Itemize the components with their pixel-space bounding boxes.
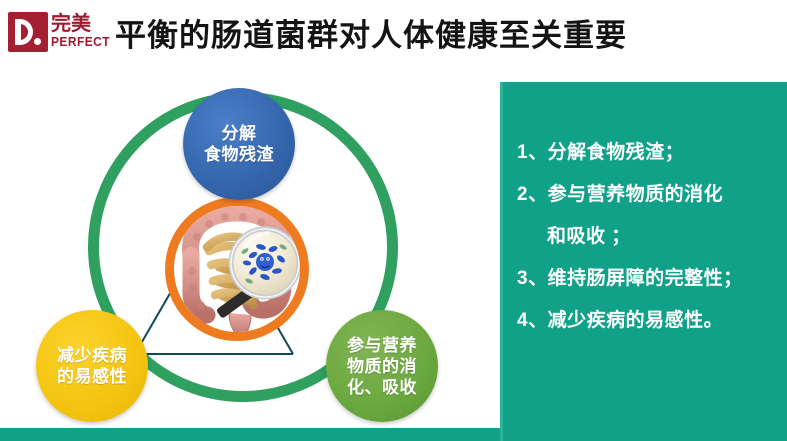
footer-accent-bar bbox=[0, 428, 500, 441]
intestine-artwork-icon bbox=[157, 189, 317, 349]
page-title: 平衡的肠道菌群对人体健康至关重要 bbox=[115, 16, 627, 56]
connector-line-bottom bbox=[135, 353, 293, 355]
gut-function-item: 1、分解食物残渣； bbox=[517, 132, 787, 174]
intestine-illustration bbox=[157, 189, 317, 349]
page-header: 完美 PERFECT 平衡的肠道菌群对人体健康至关重要 bbox=[0, 0, 787, 72]
node-reduce-disease-susceptibility[interactable]: 减少疾病 的易感性 bbox=[36, 310, 148, 422]
gut-function-item: 3、维持肠屏障的完整性； bbox=[517, 258, 787, 300]
node-right-line3: 化、吸收 bbox=[344, 377, 420, 398]
gut-functions-panel: 1、分解食物残渣；2、参与营养物质的消化和吸收 ；3、维持肠屏障的完整性；4、减… bbox=[500, 82, 787, 441]
node-top-line2: 食物残渣 bbox=[201, 144, 277, 165]
gut-functions-list: 1、分解食物残渣；2、参与营养物质的消化和吸收 ；3、维持肠屏障的完整性；4、减… bbox=[517, 132, 787, 342]
logo-english-name: PERFECT bbox=[51, 35, 110, 49]
node-break-down-food[interactable]: 分解 食物残渣 bbox=[183, 88, 295, 200]
logo-chinese-name: 完美 bbox=[51, 13, 91, 35]
node-left-line1: 减少疾病 bbox=[54, 345, 130, 366]
brand-logo: 完美 PERFECT bbox=[8, 10, 94, 56]
gut-function-item: 2、参与营养物质的消化 bbox=[517, 174, 787, 216]
gut-function-diagram: 分解 食物残渣 参与营养 物质的消 化、吸收 减少疾病 的易感性 bbox=[0, 72, 500, 428]
logo-mark-icon bbox=[8, 12, 48, 52]
node-right-line2: 物质的消 bbox=[344, 356, 420, 377]
node-nutrient-digestion[interactable]: 参与营养 物质的消 化、吸收 bbox=[326, 310, 438, 422]
logo-dot-icon bbox=[34, 38, 41, 45]
gut-function-item: 4、减少疾病的易感性。 bbox=[517, 300, 787, 342]
node-right-line1: 参与营养 bbox=[344, 335, 420, 356]
node-left-line2: 的易感性 bbox=[54, 366, 130, 387]
node-top-line1: 分解 bbox=[201, 123, 277, 144]
gut-function-item: 和吸收 ； bbox=[517, 216, 787, 258]
logo-d-shape-icon bbox=[15, 19, 33, 45]
